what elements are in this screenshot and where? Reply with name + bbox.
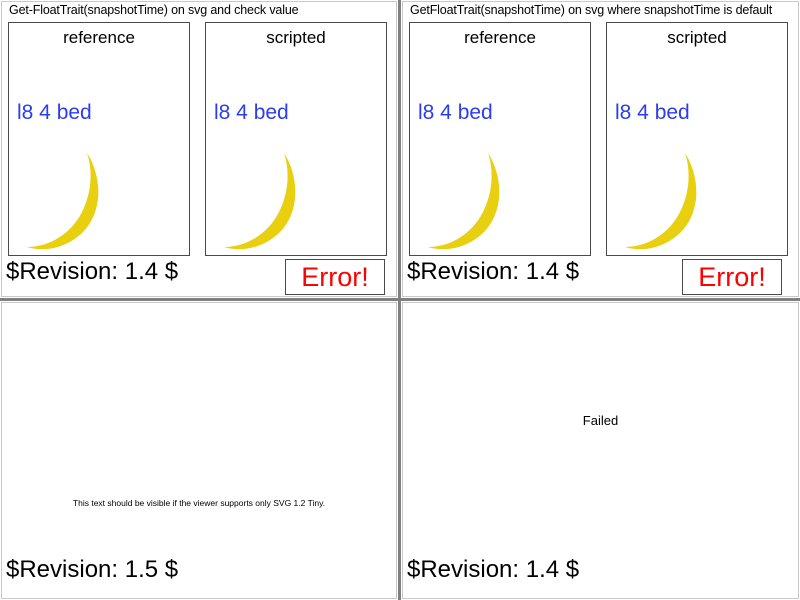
reference-panel-label: reference xyxy=(9,28,189,48)
quadrant-top-left: Get-FloatTrait(snapshotTime) on svg and … xyxy=(0,0,398,298)
crescent-moon-icon xyxy=(420,148,530,253)
reference-panel: reference l8 4 bed xyxy=(409,22,591,256)
crescent-moon-icon xyxy=(617,148,727,253)
status-badge: Error! xyxy=(682,259,782,295)
status-badge-text: Error! xyxy=(698,264,766,291)
quadrant-frame xyxy=(1,302,397,599)
revision-label: $Revision: 1.4 $ xyxy=(407,258,579,286)
scripted-panel: scripted l8 4 bed xyxy=(606,22,788,256)
status-text: Failed xyxy=(401,413,800,428)
crescent-moon-icon xyxy=(19,148,129,253)
status-badge-text: Error! xyxy=(301,264,369,291)
quadrant-bottom-left: This text should be visible if the viewe… xyxy=(0,301,398,600)
test-title: GetFloatTrait(snapshotTime) on svg where… xyxy=(410,3,772,17)
revision-label: $Revision: 1.4 $ xyxy=(407,556,579,584)
quadrant-frame xyxy=(402,302,799,599)
crescent-moon-icon xyxy=(216,148,326,253)
status-badge: Error! xyxy=(285,259,385,295)
scripted-sample-text: l8 4 bed xyxy=(214,101,289,125)
reference-sample-text: l8 4 bed xyxy=(17,101,92,125)
test-harness-canvas: Get-FloatTrait(snapshotTime) on svg and … xyxy=(0,0,800,600)
quadrant-top-right: GetFloatTrait(snapshotTime) on svg where… xyxy=(401,0,800,298)
revision-label: $Revision: 1.5 $ xyxy=(6,556,178,584)
reference-panel: reference l8 4 bed xyxy=(8,22,190,256)
test-title: Get-FloatTrait(snapshotTime) on svg and … xyxy=(9,3,298,17)
reference-panel-label: reference xyxy=(410,28,590,48)
scripted-panel: scripted l8 4 bed xyxy=(205,22,387,256)
scripted-panel-label: scripted xyxy=(607,28,787,48)
quadrant-bottom-right: Failed $Revision: 1.4 $ xyxy=(401,301,800,600)
scripted-sample-text: l8 4 bed xyxy=(615,101,690,125)
revision-label: $Revision: 1.4 $ xyxy=(6,258,178,286)
scripted-panel-label: scripted xyxy=(206,28,386,48)
svg-tiny-support-note: This text should be visible if the viewe… xyxy=(0,498,398,508)
reference-sample-text: l8 4 bed xyxy=(418,101,493,125)
